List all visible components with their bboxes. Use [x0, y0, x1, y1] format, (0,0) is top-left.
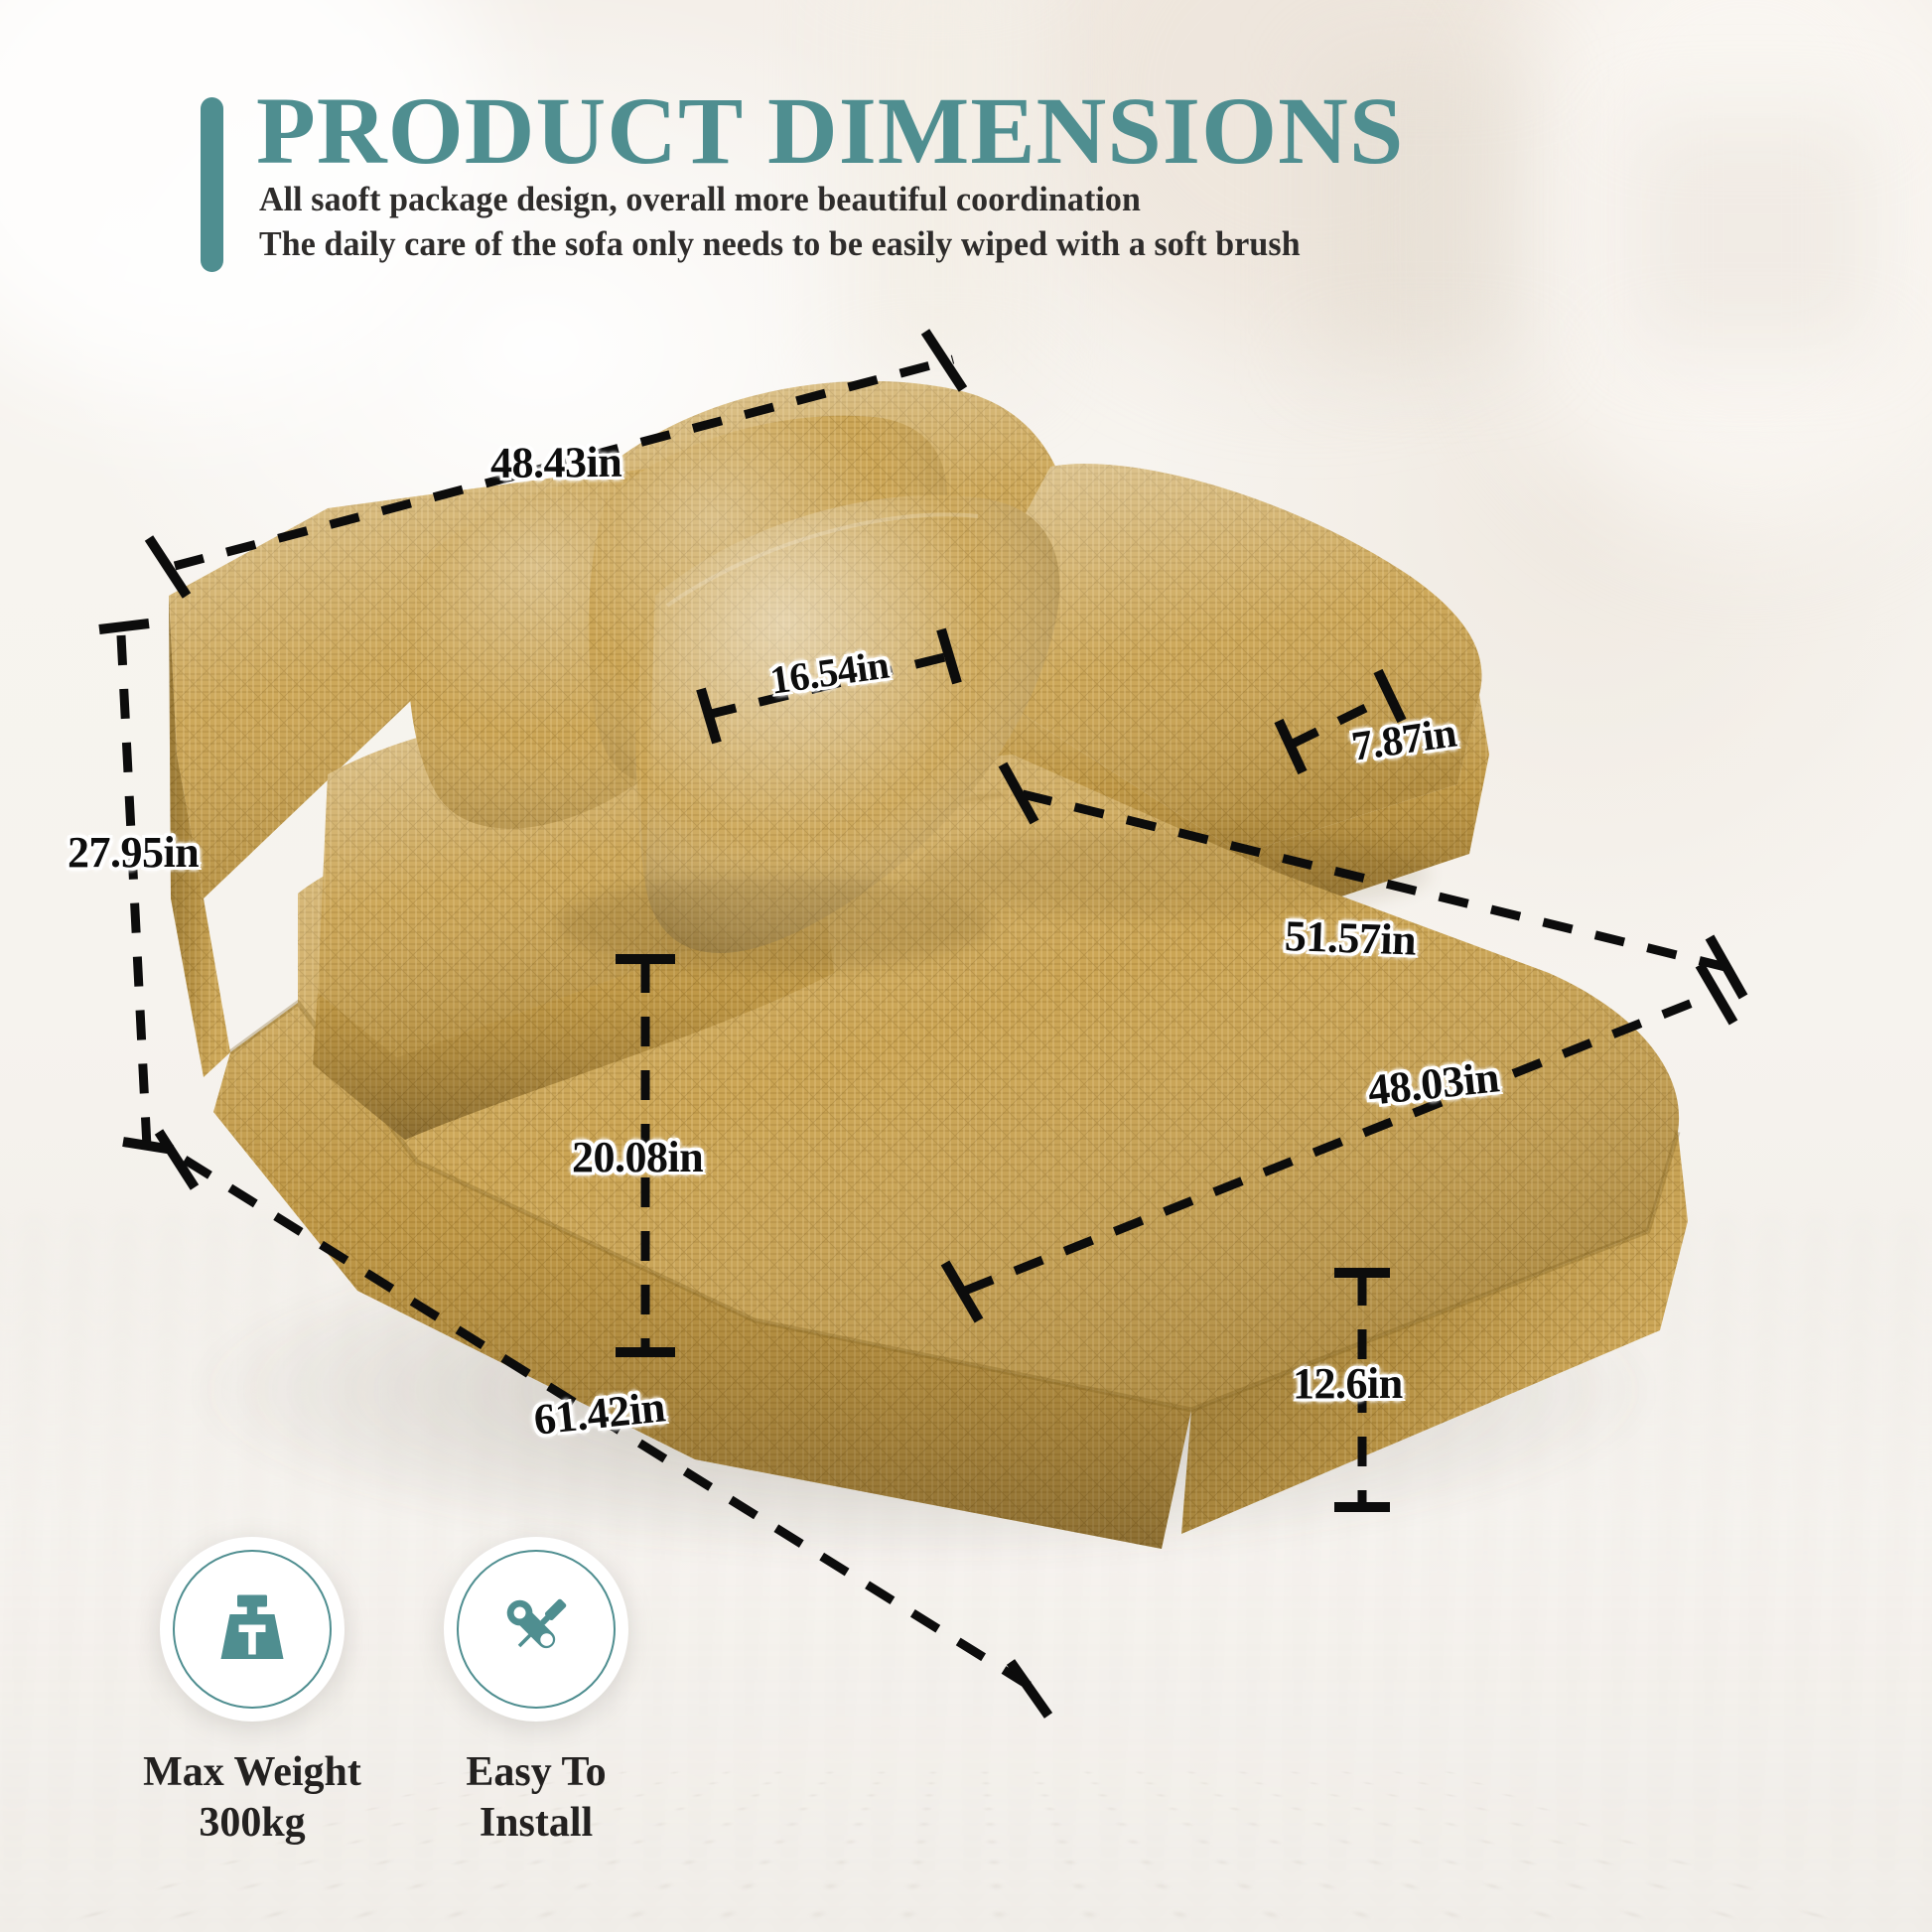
- infographic-canvas: PRODUCT DIMENSIONS All saoft package des…: [0, 0, 1932, 1932]
- dimline-height: [121, 635, 147, 1147]
- tools-icon: [488, 1582, 584, 1677]
- feature-badge-circle-tools: [444, 1537, 628, 1722]
- feature-badge-circle-weight: [160, 1537, 345, 1722]
- dimline-seat-width: [965, 993, 1718, 1291]
- dimension-label-overall-top-width: 48.43in: [490, 437, 622, 488]
- feature-max-weight: Max Weight 300kg: [103, 1537, 401, 1849]
- dimension-label-backrest-height: 20.08in: [572, 1132, 703, 1182]
- dimension-label-seat-height: 12.6in: [1293, 1358, 1403, 1409]
- feature-easy-install: Easy To Install: [387, 1537, 685, 1849]
- weight-icon: [205, 1582, 300, 1677]
- dimension-label-overall-height: 27.95in: [68, 827, 199, 878]
- feature-label-easy-install: Easy To Install: [387, 1747, 685, 1849]
- dimension-label-seat-depth: 51.57in: [1284, 910, 1417, 966]
- feature-label-max-weight: Max Weight 300kg: [103, 1747, 401, 1849]
